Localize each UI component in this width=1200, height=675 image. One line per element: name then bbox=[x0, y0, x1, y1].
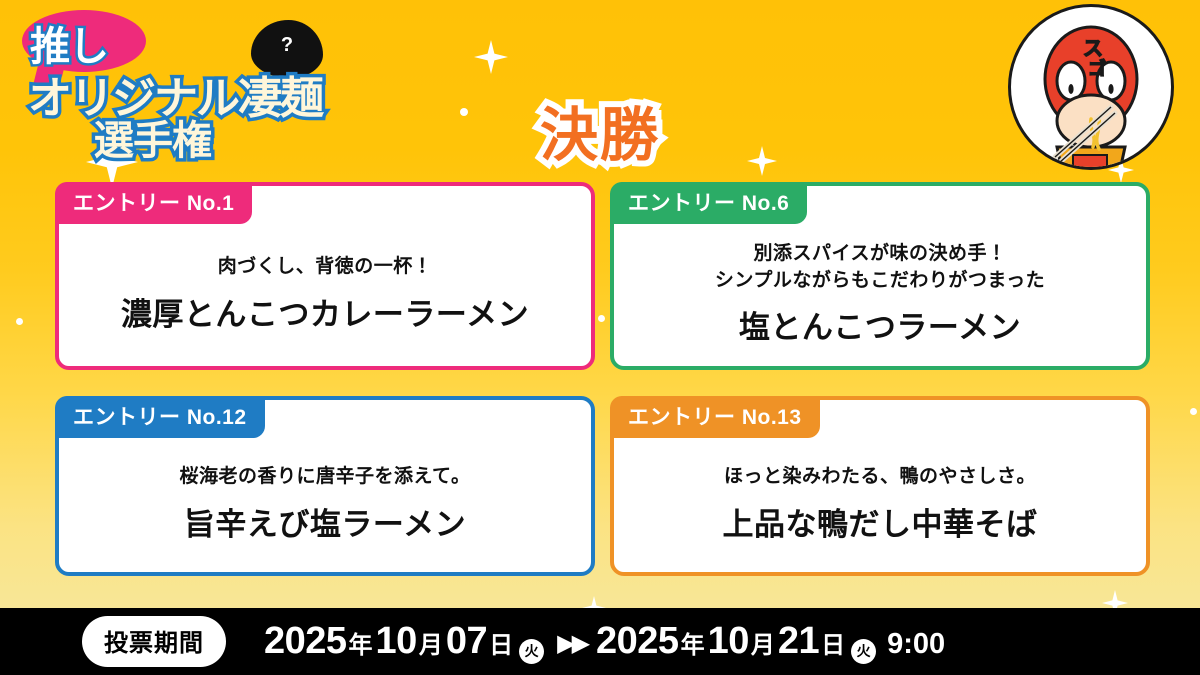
entry-body: ほっと染みわたる、鴨のやさしさ。 上品な鴨だし中華そば bbox=[614, 446, 1146, 562]
logo-line-3: 選手権 bbox=[94, 108, 211, 166]
entry-subtitle: ほっと染みわたる、鴨のやさしさ。 bbox=[724, 464, 1036, 490]
voting-period-label: 投票期間 bbox=[82, 616, 226, 667]
entry-body: 肉づくし、背徳の一杯！ 濃厚とんこつカレーラーメン bbox=[59, 232, 591, 356]
end-year-unit: 年 bbox=[681, 625, 705, 660]
sparkle-icon bbox=[474, 40, 508, 74]
end-year: 2025 bbox=[596, 620, 679, 663]
entry-subtitle: 別添スパイスが味の決め手！ シンプルながらもこだわりがつまった bbox=[715, 241, 1045, 293]
entry-badge: エントリー No.6 bbox=[610, 182, 807, 224]
entry-body: 別添スパイスが味の決め手！ シンプルながらもこだわりがつまった 塩とんこつラーメ… bbox=[614, 232, 1146, 356]
entry-body: 桜海老の香りに唐辛子を添えて。 旨辛えび塩ラーメン bbox=[59, 446, 591, 562]
end-weekday-badge: 火 bbox=[851, 639, 876, 664]
entry-card[interactable]: エントリー No.6 別添スパイスが味の決め手！ シンプルながらもこだわりがつま… bbox=[610, 182, 1150, 370]
start-month: 10 bbox=[376, 620, 417, 663]
start-year: 2025 bbox=[264, 620, 347, 663]
entry-subtitle: 桜海老の香りに唐辛子を添えて。 bbox=[180, 464, 471, 490]
entry-subtitle: 肉づくし、背徳の一杯！ bbox=[218, 254, 433, 280]
end-day: 21 bbox=[778, 620, 819, 663]
zugo-mascot-icon: ス ゴ bbox=[1011, 7, 1171, 167]
voting-period-bar: 投票期間 2025 年 10 月 07 日 火 ▶▶ 2025 年 10 月 2… bbox=[0, 608, 1200, 675]
decor-dot bbox=[1190, 408, 1197, 415]
promo-poster: 推し ? オリジナル凄麺 選手権 決勝 ス ゴ bbox=[0, 0, 1200, 675]
start-weekday-badge: 火 bbox=[519, 639, 544, 664]
entry-card[interactable]: エントリー No.12 桜海老の香りに唐辛子を添えて。 旨辛えび塩ラーメン bbox=[55, 396, 595, 576]
decor-dot bbox=[598, 315, 605, 322]
end-month-unit: 月 bbox=[751, 625, 775, 660]
entry-name: 上品な鴨だし中華そば bbox=[723, 499, 1038, 544]
entry-badge: エントリー No.12 bbox=[55, 396, 265, 438]
end-month: 10 bbox=[708, 620, 749, 663]
svg-text:ゴ: ゴ bbox=[1088, 58, 1106, 79]
mascot-avatar: ス ゴ bbox=[1008, 4, 1174, 170]
end-time: 9:00 bbox=[887, 628, 945, 661]
entry-name: 旨辛えび塩ラーメン bbox=[184, 499, 466, 544]
voting-period-dates: 2025 年 10 月 07 日 火 ▶▶ 2025 年 10 月 21 日 火… bbox=[264, 620, 945, 663]
entry-card[interactable]: エントリー No.13 ほっと染みわたる、鴨のやさしさ。 上品な鴨だし中華そば bbox=[610, 396, 1150, 576]
entry-name: 濃厚とんこつカレーラーメン bbox=[121, 289, 529, 334]
entry-name: 塩とんこつラーメン bbox=[739, 302, 1021, 347]
entry-card[interactable]: エントリー No.1 肉づくし、背徳の一杯！ 濃厚とんこつカレーラーメン bbox=[55, 182, 595, 370]
question-mark-text: ? bbox=[251, 34, 323, 57]
start-year-unit: 年 bbox=[349, 625, 373, 660]
end-day-unit: 日 bbox=[821, 625, 845, 660]
entry-badge: エントリー No.13 bbox=[610, 396, 820, 438]
svg-text:ス: ス bbox=[1083, 38, 1103, 60]
decor-dot bbox=[16, 318, 23, 325]
start-day: 07 bbox=[446, 620, 487, 663]
entry-badge: エントリー No.1 bbox=[55, 182, 252, 224]
start-month-unit: 月 bbox=[419, 625, 443, 660]
start-day-unit: 日 bbox=[489, 625, 513, 660]
date-range-arrow-icon: ▶▶ bbox=[557, 629, 586, 658]
